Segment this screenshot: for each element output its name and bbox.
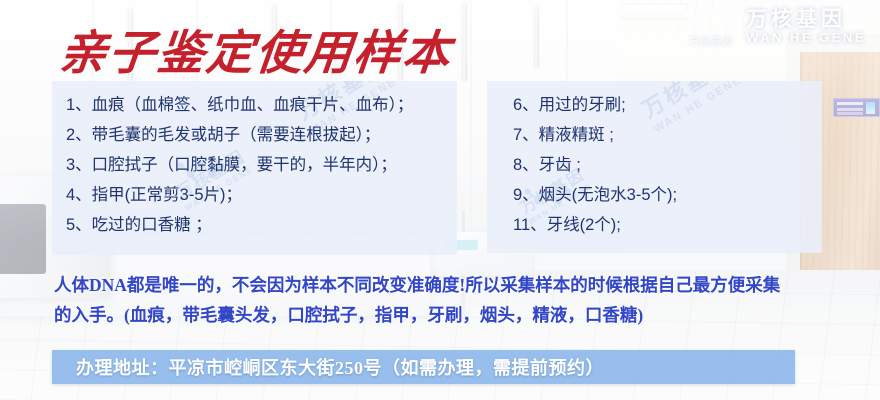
address-bar: 办理地址：平凉市崆峒区东大街250号（如需办理，需提前预约） bbox=[52, 350, 795, 384]
list-item: 8、牙齿 ; bbox=[513, 150, 822, 180]
sample-list-right: 6、用过的牙刷; 7、精液精斑 ; 8、牙齿 ; 9、烟头(无泡水3-5个); … bbox=[487, 81, 822, 240]
logo-name-en: WAN HE GENE bbox=[746, 31, 866, 45]
list-item: 3、口腔拭子（口腔黏膜，要干的，半年内）； bbox=[66, 150, 457, 180]
description-line-1: 人体DNA都是唯一的，不会因为样本不同改变准确度!所以采集样本的时候根据自己最方… bbox=[54, 270, 844, 300]
poster-canvas: 万核基因 万核基因 WAN HE GENE 亲子鉴定使用样本 万核基因 WAN … bbox=[0, 0, 880, 400]
sample-list-panel-right: 万核基因 WAN HE GENE 万核基因 WAN HE GENE 6、用过的牙… bbox=[487, 81, 822, 253]
list-item: 7、精液精斑 ; bbox=[513, 120, 822, 150]
description-line-2: 的入手。(血痕，带毛囊头发，口腔拭子，指甲，牙刷，烟头，精液，口香糖) bbox=[54, 300, 844, 330]
list-item: 9、烟头(无泡水3-5个); bbox=[513, 180, 822, 210]
logo-name-cn: 万核基因 bbox=[746, 9, 866, 31]
sample-list-panel-left: 万核基因 WAN HE GENE 万核基因 WAN HE GENE 1、血痕（血… bbox=[52, 81, 457, 255]
molecule-icon: 万核基因 bbox=[684, 6, 738, 48]
list-item: 2、带毛囊的毛发或胡子（需要连根拔起）； bbox=[66, 120, 457, 150]
list-item: 1、血痕（血棉签、纸巾血、血痕干片、血布）； bbox=[66, 90, 457, 120]
brand-logo: 万核基因 万核基因 WAN HE GENE bbox=[684, 6, 866, 48]
logo-mark-label: 万核基因 bbox=[689, 33, 733, 48]
list-item: 4、指甲(正常剪3-5片)； bbox=[66, 180, 457, 210]
address-text: 办理地址：平凉市崆峒区东大街250号（如需办理，需提前预约） bbox=[52, 354, 604, 380]
sample-list-left: 1、血痕（血棉签、纸巾血、血痕干片、血布）； 2、带毛囊的毛发或胡子（需要连根拔… bbox=[52, 81, 457, 240]
list-item: 5、吃过的口香糖 ； bbox=[66, 210, 457, 240]
description-paragraph: 人体DNA都是唯一的，不会因为样本不同改变准确度!所以采集样本的时候根据自己最方… bbox=[54, 270, 844, 330]
list-item: 6、用过的牙刷; bbox=[513, 90, 822, 120]
page-title: 亲子鉴定使用样本 bbox=[56, 14, 455, 83]
list-item: 11、牙线(2个); bbox=[513, 210, 822, 240]
